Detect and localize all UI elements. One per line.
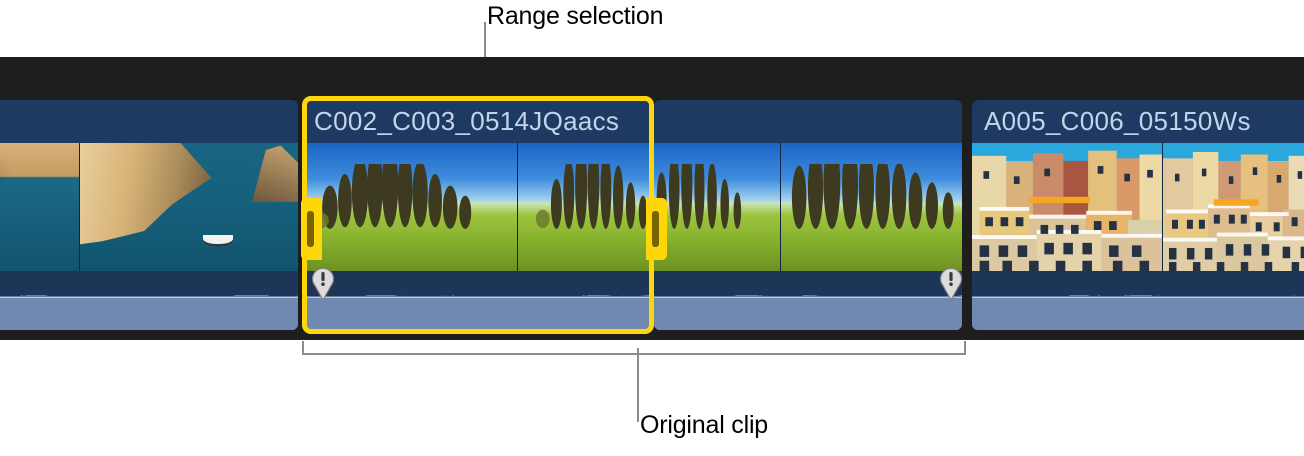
original-clip-leader-line bbox=[637, 348, 639, 422]
original-clip-bracket bbox=[302, 341, 966, 355]
filmstrip-frame bbox=[302, 143, 517, 271]
thumbnail-cypress-hill bbox=[654, 143, 780, 271]
marker-pin-icon[interactable] bbox=[310, 266, 336, 300]
thumbnail-colorful-village bbox=[1163, 143, 1304, 271]
waveform-path-left bbox=[0, 271, 298, 330]
village-buildings-art bbox=[1163, 143, 1304, 271]
waveform-path-selected bbox=[302, 271, 654, 330]
range-handle-grip bbox=[307, 211, 314, 247]
filmstrip-frame bbox=[79, 143, 298, 271]
range-selection-annotation-label: Range selection bbox=[487, 2, 663, 30]
timeline-clip-left[interactable] bbox=[0, 100, 298, 330]
filmstrip-selected bbox=[302, 143, 654, 271]
filmstrip-frame bbox=[654, 143, 780, 271]
audio-waveform-original-tail bbox=[654, 271, 962, 330]
boat-detail bbox=[203, 235, 234, 247]
marker-pin-icon[interactable] bbox=[938, 266, 964, 300]
range-handle-right[interactable] bbox=[646, 198, 667, 260]
thumbnail-coastal-cliffs bbox=[0, 143, 79, 271]
clip-title-right: A005_C006_05150Ws bbox=[972, 100, 1304, 143]
thumbnail-colorful-village bbox=[972, 143, 1162, 271]
filmstrip-right bbox=[972, 143, 1304, 271]
audio-waveform-selected bbox=[302, 271, 654, 330]
cypress-trees-art bbox=[518, 164, 654, 231]
timeline-clip-right[interactable]: A005_C006_05150Ws bbox=[972, 100, 1304, 330]
cypress-trees-art bbox=[302, 164, 517, 231]
waveform-path-right bbox=[972, 271, 1304, 330]
audio-waveform-left bbox=[0, 271, 298, 330]
range-handle-left[interactable] bbox=[301, 198, 322, 260]
clip-title-selected: C002_C003_0514JQaacs bbox=[302, 100, 654, 143]
clip-title-left bbox=[0, 100, 298, 143]
marker-pin-glyph bbox=[310, 266, 336, 300]
original-clip-annotation-label: Original clip bbox=[640, 411, 768, 439]
thumbnail-cypress-hill bbox=[518, 143, 654, 271]
audio-waveform-right bbox=[972, 271, 1304, 330]
filmstrip-original-tail bbox=[654, 143, 962, 271]
range-handle-grip bbox=[652, 211, 659, 247]
thumbnail-coastal-cliffs bbox=[80, 143, 298, 271]
filmstrip-frame bbox=[0, 143, 79, 271]
filmstrip-left bbox=[0, 143, 298, 271]
screenshot-stage: Range selection Original clip bbox=[0, 0, 1304, 456]
filmstrip-frame bbox=[517, 143, 654, 271]
timeline-clip-original-tail[interactable] bbox=[654, 100, 962, 330]
cypress-trees-art bbox=[654, 164, 780, 231]
filmstrip-frame bbox=[972, 143, 1162, 271]
timeline-clip-selected[interactable]: C002_C003_0514JQaacs bbox=[302, 100, 654, 330]
waveform-path-original-tail bbox=[654, 271, 962, 330]
cypress-trees-art bbox=[781, 164, 962, 231]
thumbnail-cypress-hill bbox=[781, 143, 962, 271]
filmstrip-frame bbox=[780, 143, 962, 271]
marker-pin-glyph bbox=[938, 266, 964, 300]
filmstrip-frame bbox=[1162, 143, 1304, 271]
thumbnail-cypress-hill bbox=[302, 143, 517, 271]
village-buildings-art bbox=[972, 143, 1162, 271]
